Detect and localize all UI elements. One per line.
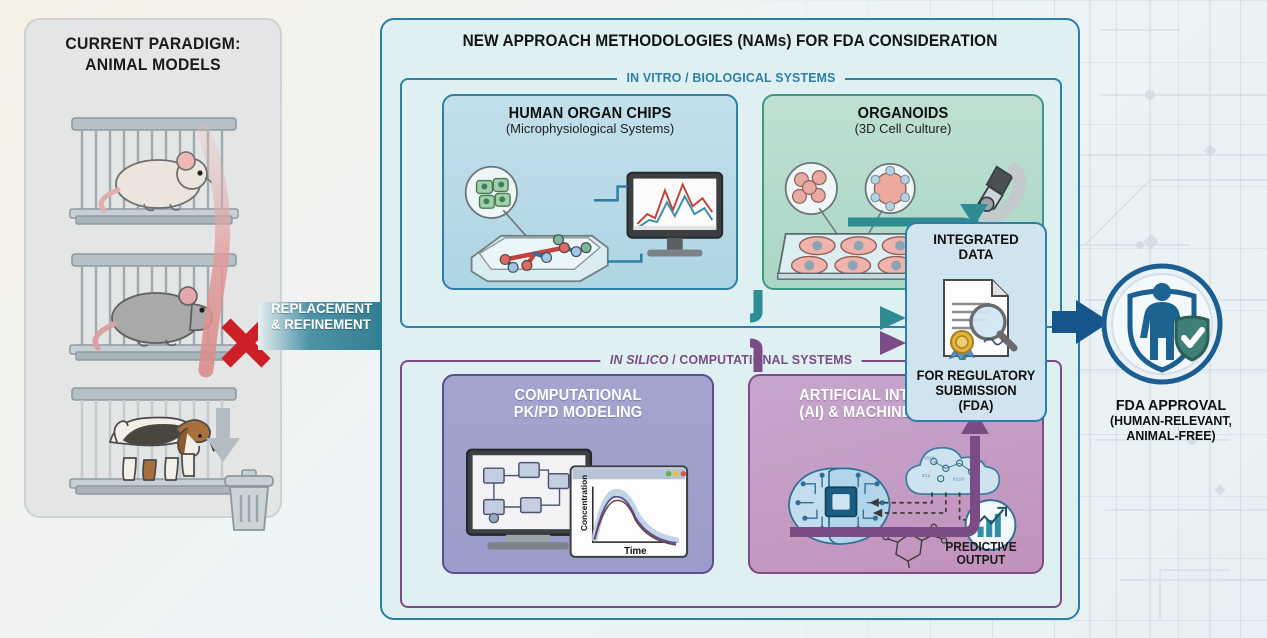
replacement-line1: REPLACEMENT xyxy=(271,300,385,316)
integrated-data-title: INTEGRATED DATA xyxy=(910,224,1041,263)
card-human-organ-chips[interactable]: HUMAN ORGAN CHIPS (Microphysiological Sy… xyxy=(442,94,738,290)
diagram-canvas: CURRENT PARADIGM: ANIMAL MODELS xyxy=(0,0,1267,638)
left-title-line2: ANIMAL MODELS xyxy=(32,55,273,76)
fda-sub-line2: ANIMAL-FREE) xyxy=(1104,429,1239,444)
integrated-title-line2: DATA xyxy=(910,247,1041,262)
document-with-magnifier-icon xyxy=(928,276,1024,360)
organ-chip-and-monitor-icon xyxy=(444,162,736,284)
card-pkpd-title-line2: PK/PD MODELING xyxy=(452,404,704,421)
in-vitro-group-label: IN VITRO / BIOLOGICAL SYSTEMS xyxy=(617,70,845,85)
card-computational-pkpd[interactable]: COMPUTATIONAL PK/PD MODELING xyxy=(442,374,714,574)
in-silico-italic: IN SILICO xyxy=(610,352,669,367)
card-organoids-subtitle: (3D Cell Culture) xyxy=(764,122,1042,137)
svg-text:1010: 1010 xyxy=(923,456,934,462)
integrated-footer-line2: SUBMISSION xyxy=(910,383,1041,398)
fda-approval-label: FDA APPROVAL xyxy=(1104,397,1239,414)
left-panel-title: CURRENT PARADIGM: ANIMAL MODELS xyxy=(32,34,273,75)
replacement-line2: & REFINEMENT xyxy=(271,316,385,332)
svg-text:0110: 0110 xyxy=(953,476,964,482)
in-silico-group-label: IN SILICO / COMPUTATIONAL SYSTEMS xyxy=(600,352,861,367)
pkpd-plot-xlabel: Time xyxy=(624,546,647,557)
integrated-title-line1: INTEGRATED xyxy=(910,232,1041,247)
caged-mouse-icon xyxy=(66,112,242,230)
integrated-footer-line3: (FDA) xyxy=(910,398,1041,413)
computer-model-diagram-icon: Concentration Time xyxy=(444,446,712,568)
integrated-data-footer: FOR REGULATORY SUBMISSION (FDA) xyxy=(910,368,1041,413)
caged-beagle-icon xyxy=(66,382,242,500)
fda-approval-outcome: FDA APPROVAL (HUMAN-RELEVANT, ANIMAL-FRE… xyxy=(1100,262,1242,462)
caged-rat-icon xyxy=(66,248,242,366)
integrated-footer-line1: FOR REGULATORY xyxy=(910,368,1041,383)
svg-text:101: 101 xyxy=(978,459,987,465)
trash-can-icon xyxy=(218,468,280,534)
card-pkpd-title: COMPUTATIONAL PK/PD MODELING xyxy=(452,376,704,422)
human-shield-check-badge-icon xyxy=(1100,262,1224,386)
replacement-refinement-label: REPLACEMENT & REFINEMENT xyxy=(271,300,385,332)
card-chips-subtitle: (Microphysiological Systems) xyxy=(444,122,736,137)
integrated-data-box[interactable]: INTEGRATED DATA FOR REGULATORY SUBMISSIO… xyxy=(905,222,1047,422)
predictive-output-line2: OUTPUT xyxy=(929,554,1034,568)
in-silico-rest: / COMPUTATIONAL SYSTEMS xyxy=(669,352,853,367)
current-paradigm-panel: CURRENT PARADIGM: ANIMAL MODELS xyxy=(24,18,282,518)
fda-approval-sub: (HUMAN-RELEVANT, ANIMAL-FREE) xyxy=(1104,414,1239,444)
card-organoids-title: ORGANOIDS xyxy=(772,96,1033,122)
predictive-output-line1: PREDICTIVE xyxy=(929,541,1034,555)
left-title-line1: CURRENT PARADIGM: xyxy=(32,34,273,55)
svg-text:011: 011 xyxy=(922,473,931,479)
nams-panel-title: NEW APPROACH METHODOLOGIES (NAMs) FOR FD… xyxy=(406,32,1053,51)
fda-sub-line1: (HUMAN-RELEVANT, xyxy=(1104,414,1239,429)
predictive-output-label: PREDICTIVE OUTPUT xyxy=(929,541,1034,569)
card-pkpd-title-line1: COMPUTATIONAL xyxy=(452,387,704,404)
card-chips-title: HUMAN ORGAN CHIPS xyxy=(453,96,727,122)
pkpd-plot-ylabel: Concentration xyxy=(579,475,589,531)
